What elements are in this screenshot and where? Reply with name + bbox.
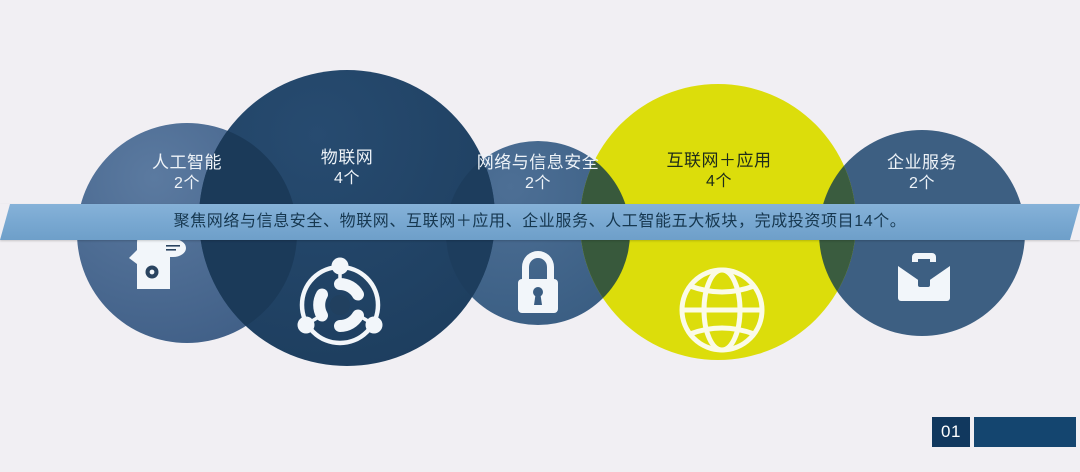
summary-banner: 聚焦网络与信息安全、物联网、互联网＋应用、企业服务、人工智能五大板块，完成投资项… bbox=[0, 204, 1080, 240]
page-number: 01 bbox=[932, 417, 970, 447]
infographic-slide: 人工智能 2个 物联网 4个 网络与信息安全 2个 互联网＋应用 4个 企业服务… bbox=[0, 0, 1080, 472]
summary-banner-text: 聚焦网络与信息安全、物联网、互联网＋应用、企业服务、人工智能五大板块，完成投资项… bbox=[0, 204, 1080, 240]
page-accent-bar bbox=[974, 417, 1076, 447]
page-badge: 01 bbox=[932, 417, 1076, 447]
